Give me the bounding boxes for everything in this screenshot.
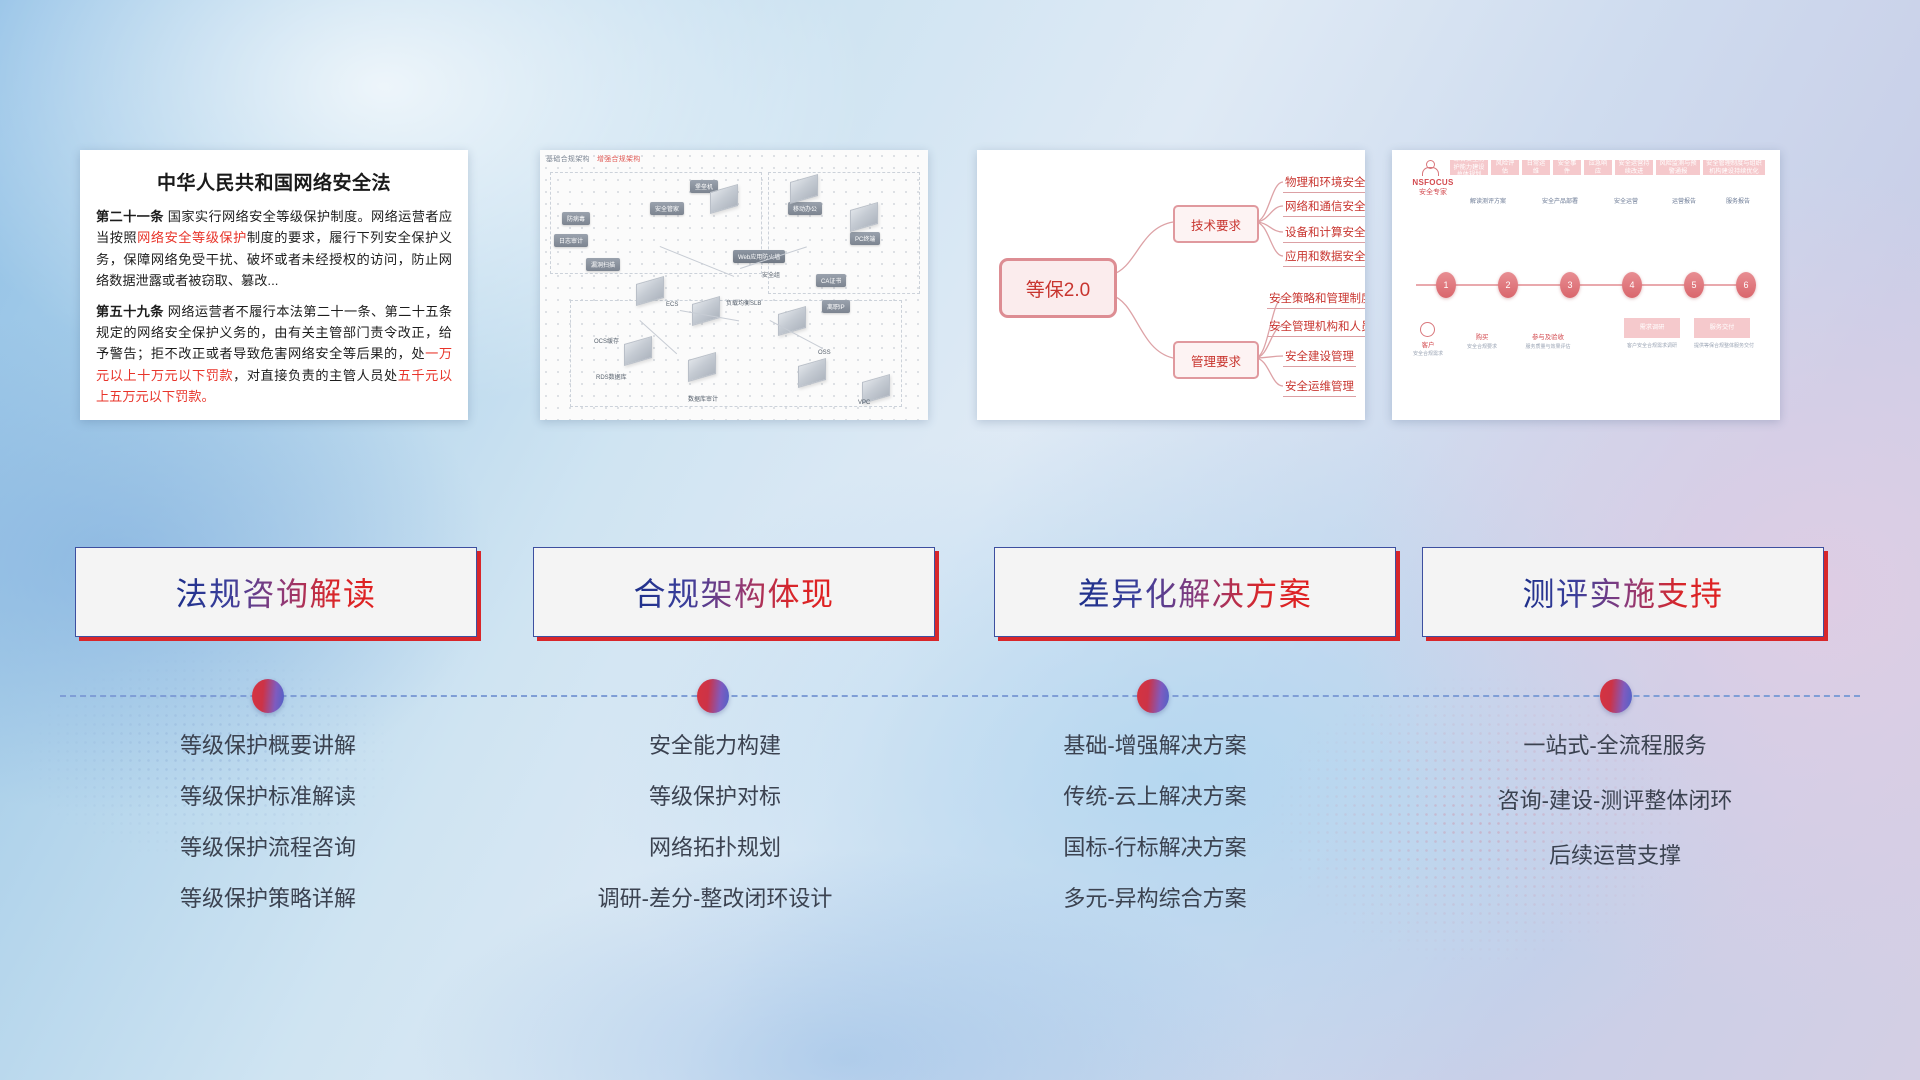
list-item: 网络拓扑规划	[505, 837, 925, 859]
mindmap-leaf-operations: 安全运维管理	[1283, 378, 1356, 397]
nsfocus-top-tag-5: 安全运营持续改进	[1615, 160, 1653, 175]
mindmap: 等保2.0 技术要求 管理要求 物理和环境安全 网络和通信安全 设备和计算安全 …	[977, 150, 1365, 420]
diagram-node-exit-ip: 离职IP	[822, 300, 850, 313]
detail-list-1: 等级保护概要讲解 等级保护标准解读 等级保护流程咨询 等级保护策略详解	[58, 735, 478, 939]
architecture-header-right: 增强合规架构	[597, 156, 641, 163]
list-item: 基础-增强解决方案	[945, 735, 1365, 757]
nsfocus-step-6: 6	[1736, 272, 1756, 298]
nsfocus-step-5: 5	[1684, 272, 1704, 298]
timeline-dot-3[interactable]	[1137, 679, 1169, 713]
law-article-21-label: 第二十一条	[96, 209, 164, 224]
list-item: 后续运营支撑	[1405, 845, 1825, 867]
bottom-right-title-1: 服务交付	[1694, 318, 1750, 338]
nsfocus-phase-tag-4: 服务报告	[1726, 196, 1750, 205]
customer-label: 客户	[1408, 340, 1448, 349]
nsfocus-brand-name: NSFOCUS	[1406, 178, 1460, 187]
list-item: 等级保护策略详解	[58, 888, 478, 910]
bottom-left-sub-1: 服务质量与效果评估	[1514, 343, 1582, 350]
nsfocus-phase-tag-0: 解读测评方案	[1470, 196, 1506, 205]
nsfocus-brand-sub: 安全专家	[1406, 187, 1460, 197]
timeline-dot-1[interactable]	[252, 679, 284, 713]
nsfocus-top-tag-7: 安全管理制度与组织机构建设持续优化	[1703, 160, 1765, 175]
mindmap-leaf-policy-system: 安全策略和管理制度	[1267, 290, 1365, 309]
diagram-tag-ecs: ECS	[666, 302, 678, 308]
bottom-left-title-1: 参与及验收	[1522, 332, 1574, 341]
detail-list-4: 一站式-全流程服务 咨询-建设-测评整体闭环 后续运营支撑	[1405, 735, 1825, 900]
timeline-dot-2[interactable]	[697, 679, 729, 713]
mindmap-leaf-app-data: 应用和数据安全	[1283, 248, 1365, 267]
architecture-header-left: 基础合规架构	[546, 156, 590, 163]
card-compliance-architecture[interactable]: 基础合规架构增强合规架构 堡垒机 安全管家 防病毒 日志审计 漏洞扫描 移动办公…	[540, 150, 928, 420]
diagram-tag-db-audit: 数据库审计	[688, 394, 718, 403]
list-item: 一站式-全流程服务	[1405, 735, 1825, 757]
expert-avatar-icon	[1422, 160, 1437, 175]
nsfocus-phase-tag-2: 安全运营	[1614, 196, 1638, 205]
nsfocus-top-tag-2: 日常运维	[1522, 160, 1550, 175]
diagram-node-antivirus: 防病毒	[562, 212, 590, 225]
mindmap-leaf-physical-env: 物理和环境安全	[1283, 174, 1365, 193]
bottom-right-sub-0: 客户安全合规需求调研	[1616, 342, 1688, 349]
diagram-tag-security-group: 安全组	[762, 270, 780, 279]
list-item: 调研-差分-整改闭环设计	[505, 888, 925, 910]
architecture-diagram: 基础合规架构增强合规架构 堡垒机 安全管家 防病毒 日志审计 漏洞扫描 移动办公…	[540, 150, 928, 420]
law-article-21-highlight: 网络安全等级保护	[137, 230, 247, 245]
section-title-label-2: 合规架构体现	[633, 569, 834, 615]
timeline-dashed-line	[60, 695, 1860, 697]
section-title-label-3: 差异化解决方案	[1078, 569, 1313, 615]
nsfocus-diagram: NSFOCUS 安全专家 综合安全防护能力建设总体规划 风险评估 日常运维 安全…	[1392, 150, 1780, 420]
architecture-header: 基础合规架构增强合规架构	[546, 154, 641, 164]
diagram-node-ca-cert: CA证书	[816, 274, 846, 287]
mindmap-root: 等保2.0	[999, 258, 1117, 318]
list-item: 多元-异构综合方案	[945, 888, 1365, 910]
nsfocus-top-tag-0: 综合安全防护能力建设总体规划	[1450, 160, 1488, 175]
list-item: 等级保护概要讲解	[58, 735, 478, 757]
mindmap-branch-management: 管理要求	[1173, 341, 1259, 379]
list-item: 安全能力构建	[505, 735, 925, 757]
diagram-tag-vpc: VPC	[858, 400, 870, 406]
card-cybersecurity-law[interactable]: 中华人民共和国网络安全法 第二十一条 国家实行网络安全等级保护制度。网络运营者应…	[80, 150, 468, 420]
nsfocus-step-1: 1	[1436, 272, 1456, 298]
diagram-node-pc-terminal: PC终端	[850, 232, 880, 245]
mindmap-branch-technical: 技术要求	[1173, 205, 1259, 243]
mindmap-leaf-construction: 安全建设管理	[1283, 348, 1356, 367]
diagram-tag-slb: 负载均衡SLB	[726, 298, 761, 307]
section-title-box-4[interactable]: 测评实施支持	[1422, 547, 1824, 637]
law-title: 中华人民共和国网络安全法	[96, 168, 452, 195]
card-nsfocus-service-timeline[interactable]: NSFOCUS 安全专家 综合安全防护能力建设总体规划 风险评估 日常运维 安全…	[1392, 150, 1780, 420]
detail-list-2: 安全能力构建 等级保护对标 网络拓扑规划 调研-差分-整改闭环设计	[505, 735, 925, 939]
nsfocus-phase-tag-1: 安全产品部署	[1542, 196, 1578, 205]
image-card-row: 中华人民共和国网络安全法 第二十一条 国家实行网络安全等级保护制度。网络运营者应…	[0, 0, 1920, 380]
diagram-tag-ocs: OCS缓存	[594, 336, 619, 345]
customer-sublabel: 安全合规需求	[1400, 350, 1456, 357]
mindmap-leaf-org-personnel: 安全管理机构和人员	[1267, 318, 1365, 337]
bottom-right-sub-1: 提供等保合规整体服务交付	[1686, 342, 1762, 349]
law-article-59-label: 第五十九条	[96, 304, 164, 319]
detail-list-row: 等级保护概要讲解 等级保护标准解读 等级保护流程咨询 等级保护策略详解 安全能力…	[0, 735, 1920, 985]
nsfocus-top-tag-4: 应急响应	[1584, 160, 1612, 175]
bottom-left-title-0: 购买	[1462, 332, 1502, 341]
mindmap-leaf-device-compute: 设备和计算安全	[1283, 224, 1365, 243]
nsfocus-step-2: 2	[1498, 272, 1518, 298]
nsfocus-top-tag-6: 风险监测与预警通报	[1656, 160, 1700, 175]
card-mindmap-dengbao[interactable]: 等保2.0 技术要求 管理要求 物理和环境安全 网络和通信安全 设备和计算安全 …	[977, 150, 1365, 420]
law-body: 中华人民共和国网络安全法 第二十一条 国家实行网络安全等级保护制度。网络运营者应…	[80, 150, 468, 420]
diagram-tag-oss: OSS	[818, 350, 831, 356]
nsfocus-step-4: 4	[1622, 272, 1642, 298]
diagram-tag-rds: RDS数据库	[596, 372, 627, 381]
section-title-box-2[interactable]: 合规架构体现	[533, 547, 935, 637]
list-item: 等级保护流程咨询	[58, 837, 478, 859]
diagram-node-log-audit: 日志审计	[554, 234, 588, 247]
diagram-node-mobile-office: 移动办公	[788, 202, 822, 215]
detail-list-3: 基础-增强解决方案 传统-云上解决方案 国标-行标解决方案 多元-异构综合方案	[945, 735, 1365, 939]
section-title-box-1[interactable]: 法规咨询解读	[75, 547, 477, 637]
mindmap-leaf-network-comm: 网络和通信安全	[1283, 198, 1365, 217]
nsfocus-step-3: 3	[1560, 272, 1580, 298]
diagram-node-vuln-scan: 漏洞扫描	[586, 258, 620, 271]
section-title-label-4: 测评实施支持	[1522, 569, 1723, 615]
law-article-59-text-b: ，对直接负责的主管人员处	[233, 368, 398, 383]
section-title-label-1: 法规咨询解读	[175, 569, 376, 615]
law-article-21: 第二十一条 国家实行网络安全等级保护制度。网络运营者应当按照网络安全等级保护制度…	[96, 206, 452, 292]
customer-avatar-icon	[1420, 322, 1435, 337]
list-item: 咨询-建设-测评整体闭环	[1405, 790, 1825, 812]
diagram-region-cloud	[570, 300, 902, 407]
section-title-box-3[interactable]: 差异化解决方案	[994, 547, 1396, 637]
diagram-node-security-butler: 安全管家	[650, 202, 684, 215]
list-item: 等级保护标准解读	[58, 786, 478, 808]
law-article-59: 第五十九条 网络运营者不履行本法第二十一条、第二十五条规定的网络安全保护义务的，…	[96, 301, 452, 408]
nsfocus-top-tag-1: 风险评估	[1491, 160, 1519, 175]
list-item: 传统-云上解决方案	[945, 786, 1365, 808]
list-item: 国标-行标解决方案	[945, 837, 1365, 859]
nsfocus-phase-tag-3: 运营报告	[1672, 196, 1696, 205]
nsfocus-top-tag-3: 安全事件	[1553, 160, 1581, 175]
nsfocus-timeline-axis	[1416, 284, 1756, 286]
bottom-left-sub-0: 安全合规要求	[1454, 343, 1510, 350]
nsfocus-brand: NSFOCUS 安全专家	[1406, 178, 1460, 197]
bottom-right-title-0: 需求调研	[1624, 318, 1680, 338]
timeline-dot-4[interactable]	[1600, 679, 1632, 713]
list-item: 等级保护对标	[505, 786, 925, 808]
